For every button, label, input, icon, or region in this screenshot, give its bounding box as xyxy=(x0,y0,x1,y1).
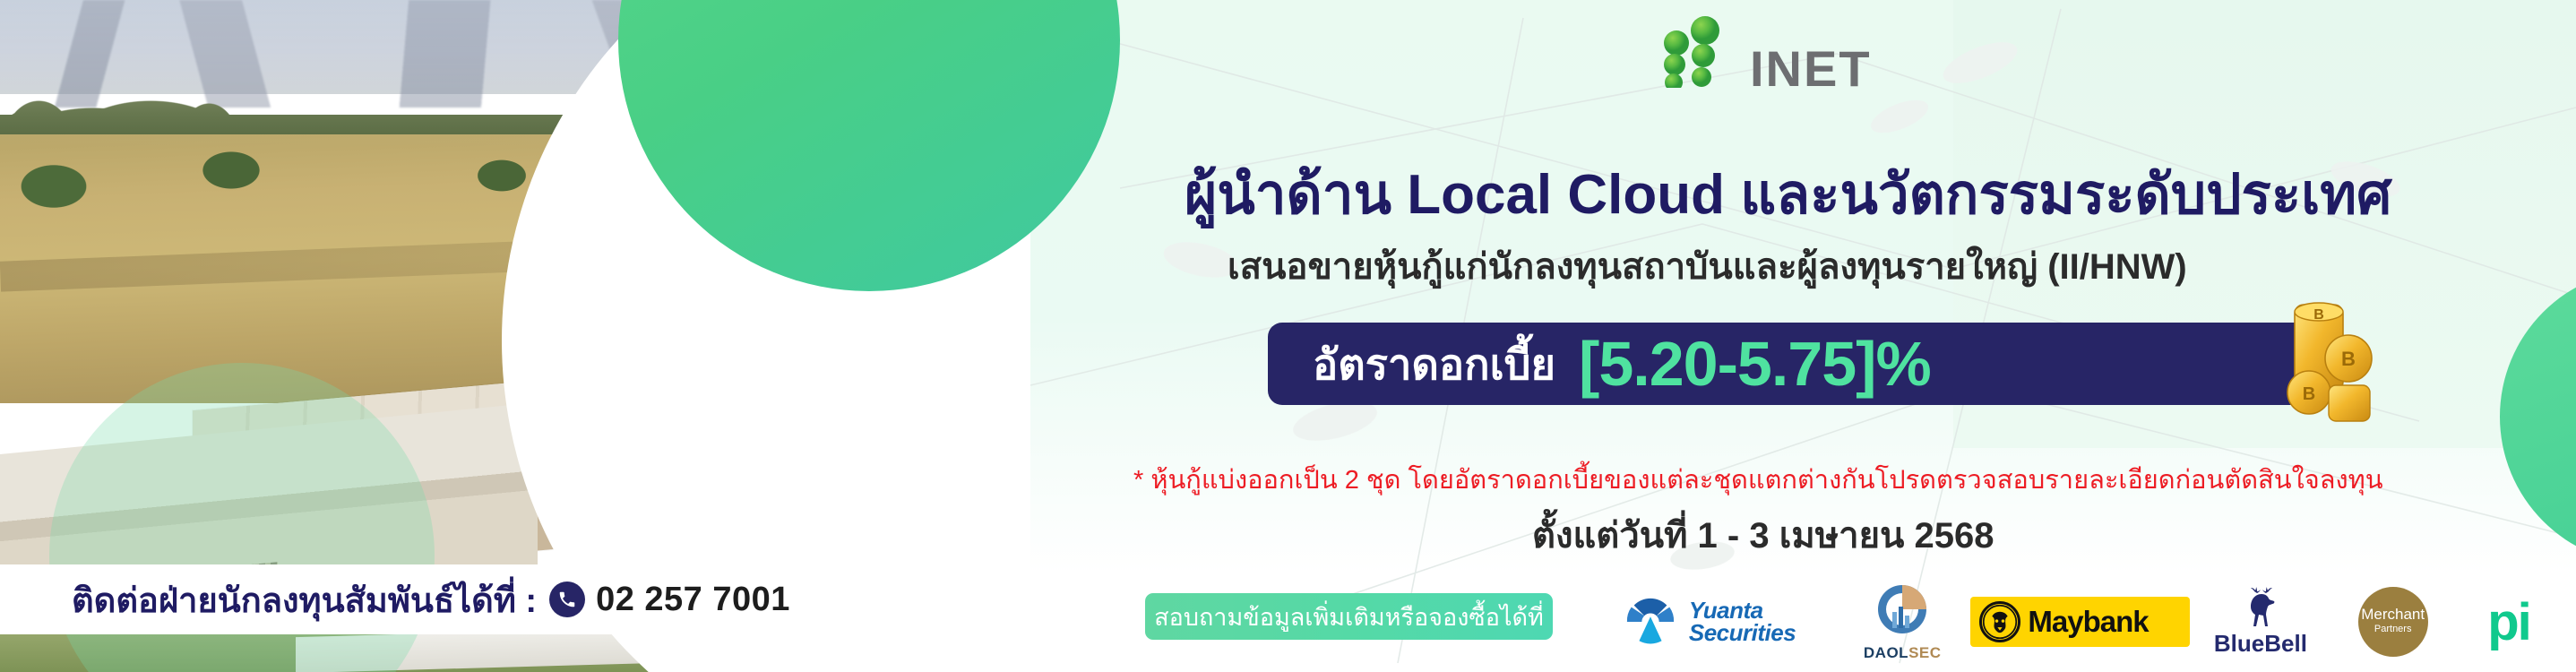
interest-rate-label: อัตราดอกเบี้ย xyxy=(1313,331,1555,398)
inet-dots-logo-icon xyxy=(1644,16,1750,88)
interest-rate-box: อัตราดอกเบี้ย [5.20-5.75]% B B B xyxy=(1268,323,2334,405)
investor-relations-contact: ติดต่อฝ่ายนักลงทุนสัมพันธ์ได้ที่ : 02 25… xyxy=(0,564,838,634)
svg-text:B: B xyxy=(2303,384,2315,404)
svg-text:B: B xyxy=(2313,307,2324,323)
yuanta-wordmark: Yuanta Securities xyxy=(1689,599,1796,645)
interest-rate-value: [5.20-5.75]% xyxy=(1579,328,1931,400)
contact-phone-number[interactable]: 02 257 7001 xyxy=(596,581,790,619)
yuanta-star-icon xyxy=(1624,596,1676,648)
enquiry-cta-button[interactable]: สอบถามข้อมูลเพิ่มเติมหรือจองซื้อได้ที่ xyxy=(1145,593,1553,640)
partner-logo-merchant-partners[interactable]: Merchant Partners xyxy=(2330,581,2455,663)
maybank-tiger-icon xyxy=(1979,601,2020,642)
partner-logo-bluebell[interactable]: BlueBell xyxy=(2190,581,2330,663)
offering-date: ตั้งแต่วันที่ 1 - 3 เมษายน 2568 xyxy=(1532,506,1994,564)
bluebell-wordmark: BlueBell xyxy=(2214,630,2307,658)
partner-logo-yuanta[interactable]: Yuanta Securities xyxy=(1586,581,1834,663)
daol-wordmark: DAOLSEC xyxy=(1864,644,1942,662)
cta-label: สอบถามข้อมูลเพิ่มเติมหรือจองซื้อได้ที่ xyxy=(1154,598,1544,636)
partner-logo-daol[interactable]: DAOLSEC xyxy=(1834,581,1970,663)
disclaimer-text: * หุ้นกู้แบ่งออกเป็น 2 ชุด โดยอัตราดอกเบ… xyxy=(1133,459,2567,500)
merchant-partners-circle-icon: Merchant Partners xyxy=(2358,587,2428,657)
gold-coins-icon: B B B xyxy=(2262,299,2379,425)
promotional-banner: INET ผู้นำด้าน Local Cloud และนวัตกรรมระ… xyxy=(0,0,2576,672)
partner-logos: Yuanta Securities DAOLSEC xyxy=(1586,581,2563,663)
partner-logo-maybank[interactable]: Maybank xyxy=(1970,581,2190,663)
daol-pie-chart-icon xyxy=(1874,582,1930,637)
daol-name-suffix: SEC xyxy=(1908,644,1941,661)
contact-label: ติดต่อฝ่ายนักลงทุนสัมพันธ์ได้ที่ : xyxy=(72,573,537,627)
svg-text:B: B xyxy=(2341,348,2356,370)
maybank-wordmark: Maybank xyxy=(2028,605,2148,639)
phone-icon xyxy=(549,582,585,617)
inet-logo[interactable]: INET xyxy=(1644,16,1976,88)
yuanta-name-line2: Securities xyxy=(1689,622,1796,644)
partner-logo-pi[interactable]: pi xyxy=(2455,581,2563,663)
page-subtitle: เสนอขายหุ้นกู้แก่นักลงทุนสถาบันและผู้ลงท… xyxy=(1228,237,2500,295)
page-title: ผู้นำด้าน Local Cloud และนวัตกรรมระดับปร… xyxy=(1185,151,2529,238)
daol-name: DAOL xyxy=(1864,644,1908,661)
merchant-name: Merchant xyxy=(2361,607,2425,622)
bluebell-deer-icon xyxy=(2236,587,2285,628)
pi-wordmark: pi xyxy=(2487,592,2530,652)
inet-logo-text: INET xyxy=(1750,39,1872,98)
merchant-name-sub: Partners xyxy=(2374,622,2412,638)
